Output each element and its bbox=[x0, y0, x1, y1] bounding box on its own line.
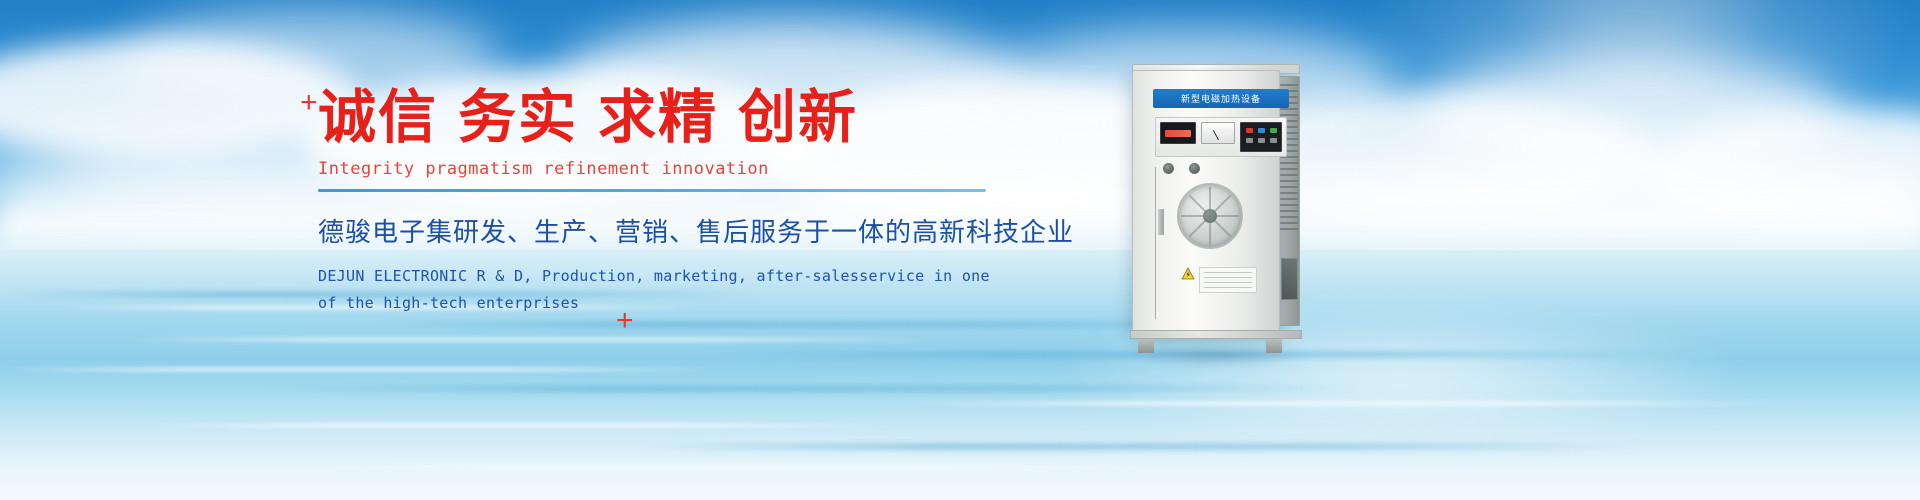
product-nameplate-text: 新型电磁加热设备 bbox=[1181, 92, 1261, 105]
warning-label-icon bbox=[1181, 267, 1195, 280]
analog-gauge bbox=[1201, 122, 1235, 144]
water-streak bbox=[260, 386, 1360, 391]
control-knob bbox=[1163, 163, 1174, 174]
product-image-induction-heater: 新型电磁加热设备 bbox=[1118, 62, 1308, 352]
keypad bbox=[1240, 122, 1282, 152]
tagline-english-line: of the high-tech enterprises bbox=[318, 290, 1018, 318]
control-knob bbox=[1189, 163, 1200, 174]
tagline-english-line: DEJUN ELECTRONIC R & D, Production, mark… bbox=[318, 263, 1018, 291]
headline-word: 诚信 bbox=[318, 83, 438, 151]
water-streak bbox=[640, 444, 1640, 449]
promotional-banner: + + 诚信务实求精创新 Integrity pragmatism refine… bbox=[0, 0, 1920, 500]
spec-plate bbox=[1199, 267, 1257, 293]
machine-base bbox=[1130, 330, 1302, 339]
machine-side-vent-block bbox=[1281, 258, 1298, 300]
digital-display bbox=[1160, 122, 1196, 144]
banner-copy-block: 诚信务实求精创新 Integrity pragmatism refinement… bbox=[318, 86, 1018, 318]
tagline-chinese: 德骏电子集研发、生产、营销、售后服务于一体的高新科技企业 bbox=[318, 212, 1018, 249]
water-streak bbox=[140, 424, 900, 427]
water-streak bbox=[900, 402, 1800, 405]
machine-leg bbox=[1266, 339, 1282, 353]
headline-word: 务实 bbox=[458, 83, 578, 151]
cooling-fan-vent bbox=[1177, 183, 1243, 249]
water-streak bbox=[120, 338, 940, 341]
headline-word: 求精 bbox=[598, 83, 718, 151]
water-streak bbox=[0, 368, 720, 371]
headline-chinese: 诚信务实求精创新 bbox=[318, 86, 1018, 149]
product-nameplate: 新型电磁加热设备 bbox=[1153, 89, 1289, 108]
headline-english-subtitle: Integrity pragmatism refinement innovati… bbox=[318, 159, 1018, 179]
control-panel bbox=[1155, 117, 1287, 157]
water-streak bbox=[300, 466, 1180, 469]
machine-leg bbox=[1138, 339, 1154, 353]
decor-plus-icon: + bbox=[300, 88, 318, 118]
tagline-english: DEJUN ELECTRONIC R & D, Production, mark… bbox=[318, 263, 1018, 319]
headline-word: 创新 bbox=[738, 83, 858, 151]
door-latch-handle bbox=[1158, 209, 1164, 235]
machine-cabinet: 新型电磁加热设备 bbox=[1132, 70, 1280, 332]
divider-rule bbox=[318, 189, 986, 192]
cabinet-door-seam bbox=[1155, 167, 1156, 319]
